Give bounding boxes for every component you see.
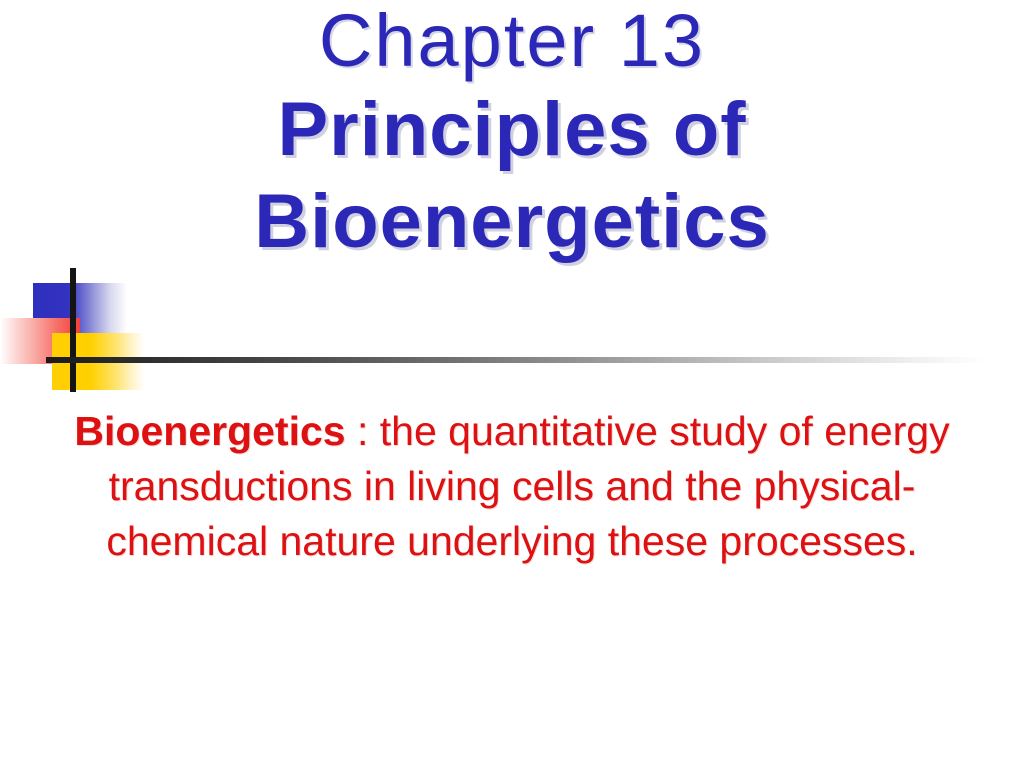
decoration-horizontal-rule (46, 357, 986, 363)
title-line-bioenergetics: Bioenergetics (0, 168, 1024, 260)
decoration-yellow-square (52, 333, 144, 390)
blends-decoration (0, 258, 1024, 398)
decoration-vertical-bar (70, 268, 76, 392)
slide-canvas: Chapter 13 Principles of Bioenergetics B… (0, 0, 1024, 768)
decoration-blue-square (33, 283, 127, 333)
slide-title: Chapter 13 Principles of Bioenergetics (0, 0, 1024, 260)
body-term: Bioenergetics (74, 408, 345, 454)
title-line-principles: Principles of (0, 78, 1024, 168)
decoration-red-gradient (0, 318, 80, 364)
title-line-chapter: Chapter 13 (0, 0, 1024, 78)
body-paragraph: Bioenergetics : the quantitative study o… (72, 404, 952, 569)
